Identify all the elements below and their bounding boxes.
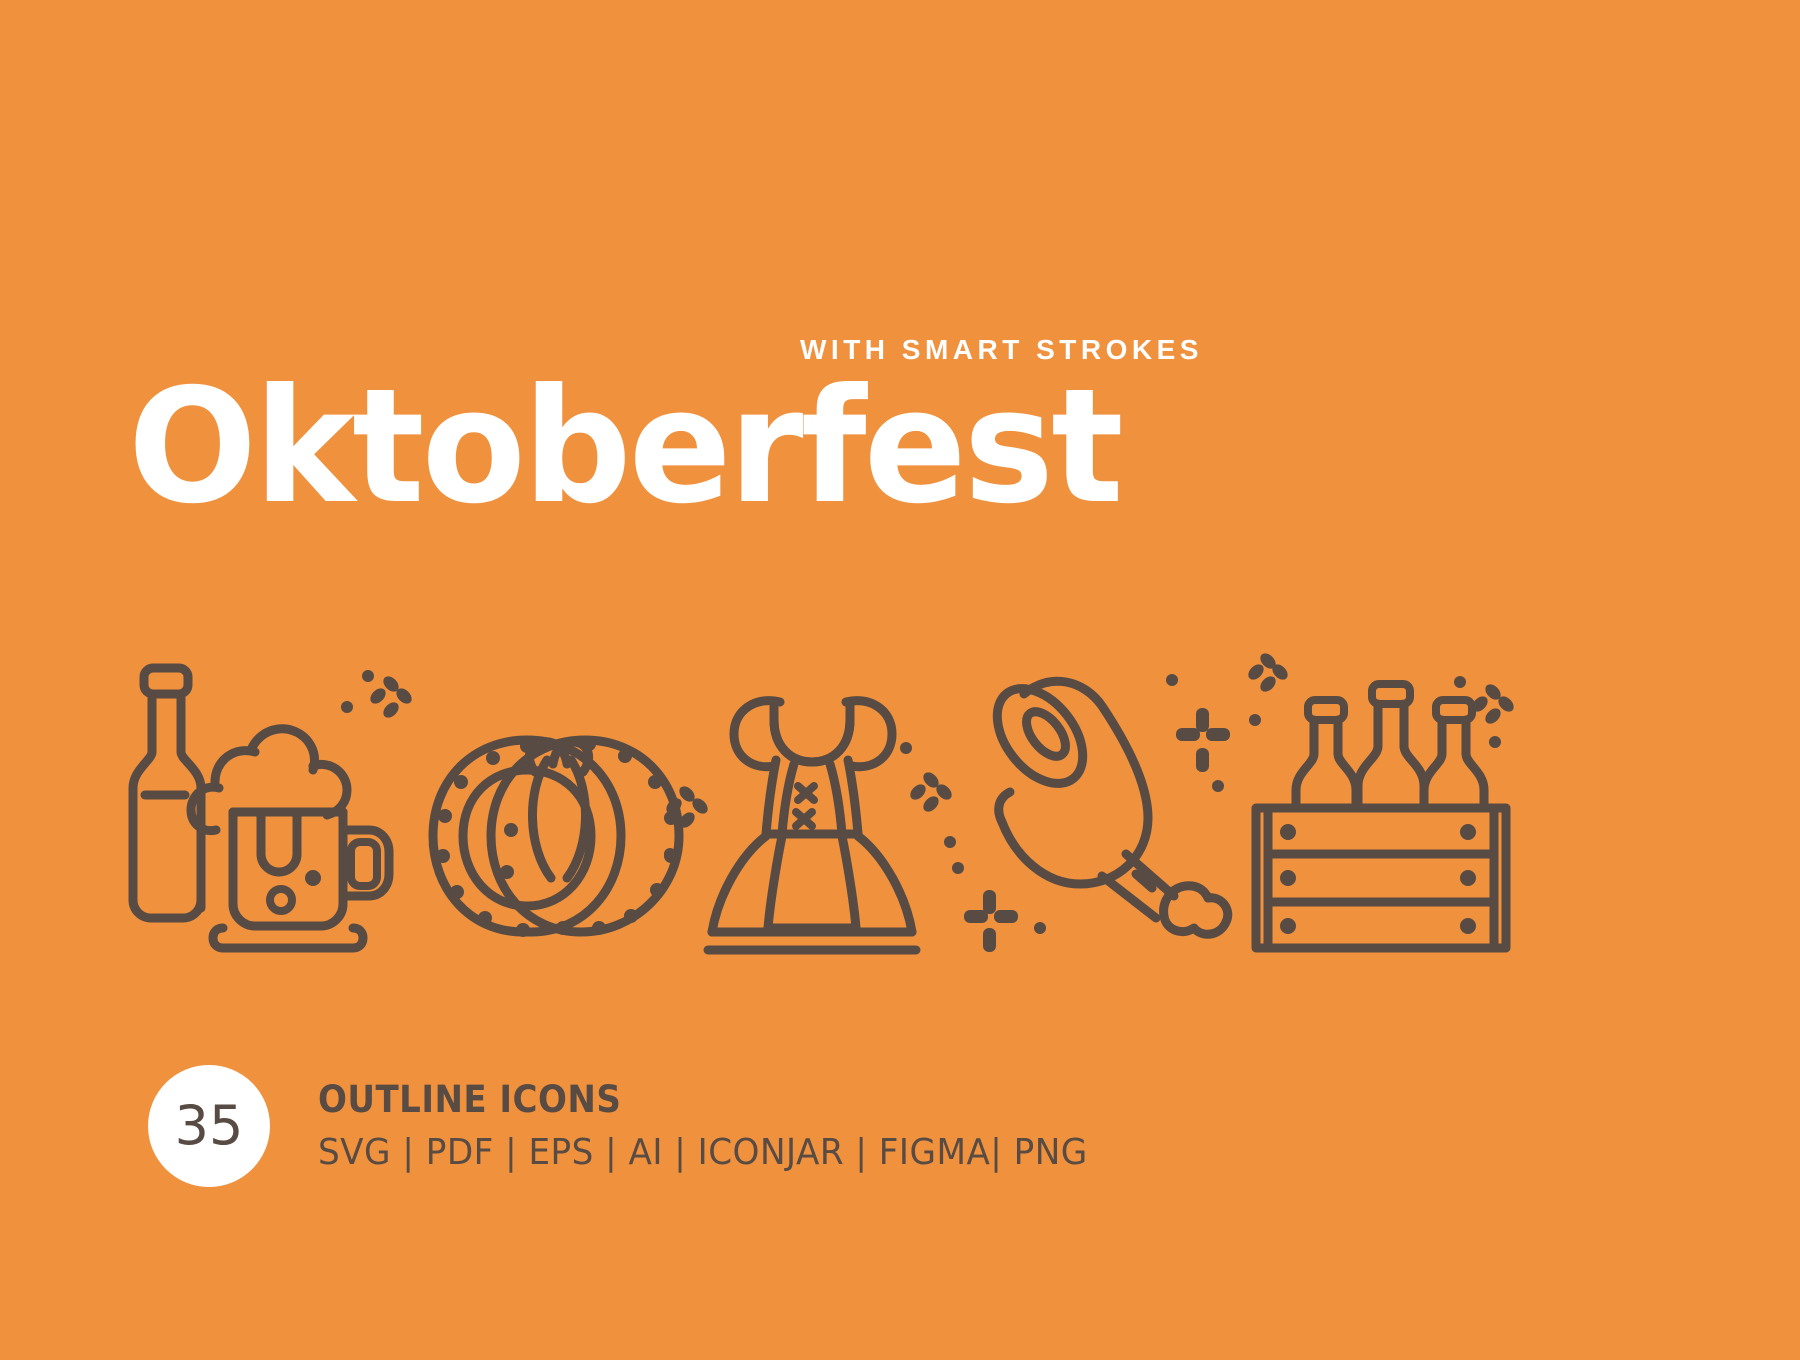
beer-bottle-and-mug-icon	[115, 660, 415, 950]
beer-crate-icon	[1250, 660, 1550, 950]
page-title: Oktoberfest	[128, 368, 1121, 526]
poster-canvas: WITH SMART STROKES Oktoberfest	[0, 0, 1800, 1360]
icon-count-badge: 35	[148, 1065, 270, 1187]
icon-count-value: 35	[175, 1099, 244, 1153]
ham-hock-icon	[950, 660, 1250, 950]
icon-showcase-row	[0, 660, 1800, 950]
footer-info: 35 OUTLINE ICONS SVG | PDF | EPS | AI | …	[148, 1065, 1128, 1187]
footer-text-group: OUTLINE ICONS SVG | PDF | EPS | AI | ICO…	[318, 1081, 1128, 1172]
file-formats-list: SVG | PDF | EPS | AI | ICONJAR | FIGMA| …	[318, 1134, 1088, 1172]
outline-icons-heading: OUTLINE ICONS	[318, 1081, 1063, 1120]
dirndl-dress-icon	[660, 660, 960, 950]
